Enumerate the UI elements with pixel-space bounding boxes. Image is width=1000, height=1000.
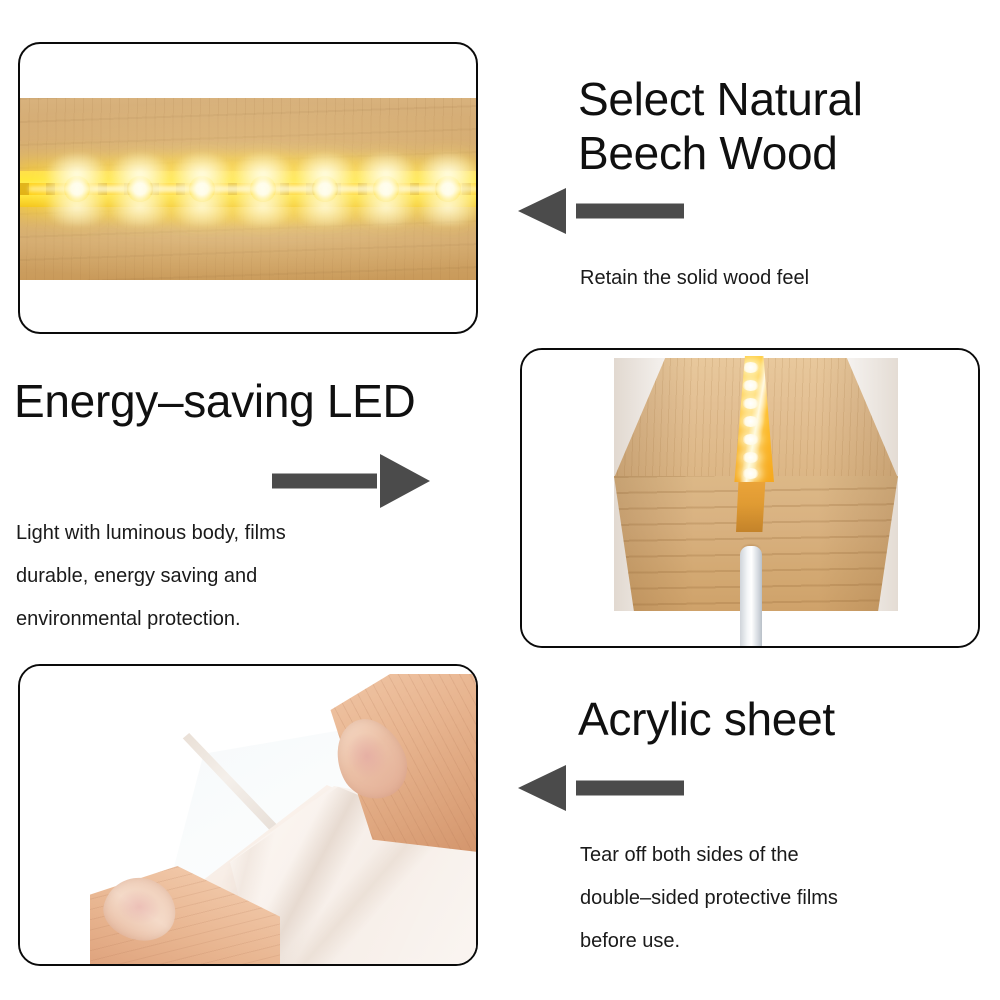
section-heading-energy-saving-led: Energy–saving LED: [14, 374, 494, 428]
arrow-bar: [576, 204, 684, 219]
photo-card-beech-block-end: [520, 348, 980, 648]
arrow-bar: [272, 474, 377, 489]
section-subtext-energy-saving-led: Light with luminous body, films durable,…: [16, 512, 416, 641]
led-dot: [742, 416, 759, 427]
section-heading-beech-wood: Select Natural Beech Wood: [578, 72, 978, 180]
led-dot: [742, 434, 759, 445]
infographic-canvas: Select Natural Beech Wood Retain the sol…: [0, 0, 1000, 1000]
power-cable: [740, 546, 762, 646]
arrow-right-energy-saving-led: [272, 459, 430, 503]
arrow-left-acrylic-sheet: [518, 766, 688, 810]
arrow-triangle-icon: [380, 454, 430, 508]
led-dot: [435, 176, 461, 202]
section-subtext-beech-wood: Retain the solid wood feel: [580, 257, 970, 300]
led-dot: [64, 176, 90, 202]
arrow-triangle-icon: [518, 765, 566, 811]
photo-hands-peeling-protective-film: [20, 666, 476, 964]
arrow-bar: [576, 781, 684, 796]
led-dot: [742, 452, 759, 463]
photo-beech-block-with-lit-channel: [522, 350, 978, 646]
photo-card-led-strip-on-wood: [18, 42, 478, 334]
photo-led-strip-on-beech-board: [20, 98, 476, 280]
led-dot: [127, 176, 153, 202]
arrow-left-beech-wood: [518, 189, 688, 233]
section-heading-acrylic-sheet: Acrylic sheet: [578, 692, 978, 746]
led-dot: [373, 176, 399, 202]
arrow-triangle-icon: [518, 188, 566, 234]
led-dot: [312, 176, 338, 202]
led-dot: [742, 362, 759, 373]
photo-card-acrylic-film-peel: [18, 664, 478, 966]
led-dot: [742, 380, 759, 391]
led-dot: [742, 468, 759, 479]
led-dot: [250, 176, 276, 202]
section-subtext-acrylic-sheet: Tear off both sides of the double–sided …: [580, 834, 980, 963]
led-dot: [742, 398, 759, 409]
led-dot: [189, 176, 215, 202]
